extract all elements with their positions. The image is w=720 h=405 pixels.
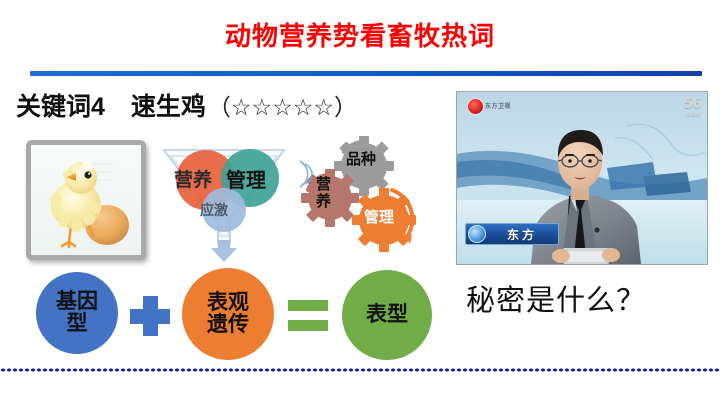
station-logo-icon: [467, 98, 484, 115]
title-divider: [30, 71, 702, 76]
plus-sign: [130, 296, 170, 336]
news-broadcast-screenshot: 东方卫视 56 .com 东方: [456, 91, 708, 265]
equals-sign: [288, 300, 328, 332]
page-title: 动物营养势看畜牧热词: [0, 20, 720, 52]
circle-epigenetics: 表观遗传: [182, 268, 274, 360]
watermark-sub: .com: [684, 112, 701, 118]
funnel-label-stress: 应激: [200, 200, 228, 220]
bottom-divider: [0, 368, 720, 372]
gear-label-management: 管理: [364, 206, 394, 227]
keyword-line: 关键词4速生鸡（☆☆☆☆☆）: [16, 92, 357, 122]
chick-photo: [26, 140, 146, 260]
funnel-diagram: 营养 管理 应激: [158, 136, 290, 264]
secret-question: 秘密是什么？: [466, 277, 706, 319]
plus-bar-vertical: [143, 296, 158, 336]
globe-icon: [468, 225, 486, 243]
watermark-main: 56: [684, 96, 701, 112]
circle-genotype-label: 基因型: [54, 291, 100, 335]
equals-bar-top: [288, 300, 328, 311]
funnel-label-nutrition: 营养: [174, 165, 212, 192]
circle-genotype: 基因型: [36, 272, 118, 354]
chick-photo-art: [31, 145, 141, 255]
circle-phenotype-label: 表型: [366, 304, 408, 326]
keyword-label: 关键词4: [16, 93, 105, 121]
funnel-down-arrow: [211, 240, 237, 262]
gear-label-breed: 品种: [346, 148, 376, 169]
gears-diagram: 品种 营养 管理: [300, 136, 450, 264]
lower-third-label: 东方: [486, 226, 558, 243]
slide-canvas: 动物营养势看畜牧热词 关键词4速生鸡（☆☆☆☆☆）: [0, 0, 720, 405]
lower-third-banner: 东方: [465, 223, 559, 245]
equals-bar-bottom: [288, 320, 328, 331]
gear-label-nutrition: 营养: [316, 176, 336, 210]
keyword-word: 速生鸡: [131, 93, 206, 121]
keyword-rating-stars: （☆☆☆☆☆）: [208, 94, 357, 120]
funnel-label-management: 管理: [226, 164, 266, 193]
watermark-56com: 56 .com: [684, 96, 701, 118]
circle-epigenetics-label: 表观遗传: [205, 292, 251, 336]
circle-phenotype: 表型: [342, 270, 432, 360]
station-logo-text: 东方卫视: [485, 101, 511, 110]
